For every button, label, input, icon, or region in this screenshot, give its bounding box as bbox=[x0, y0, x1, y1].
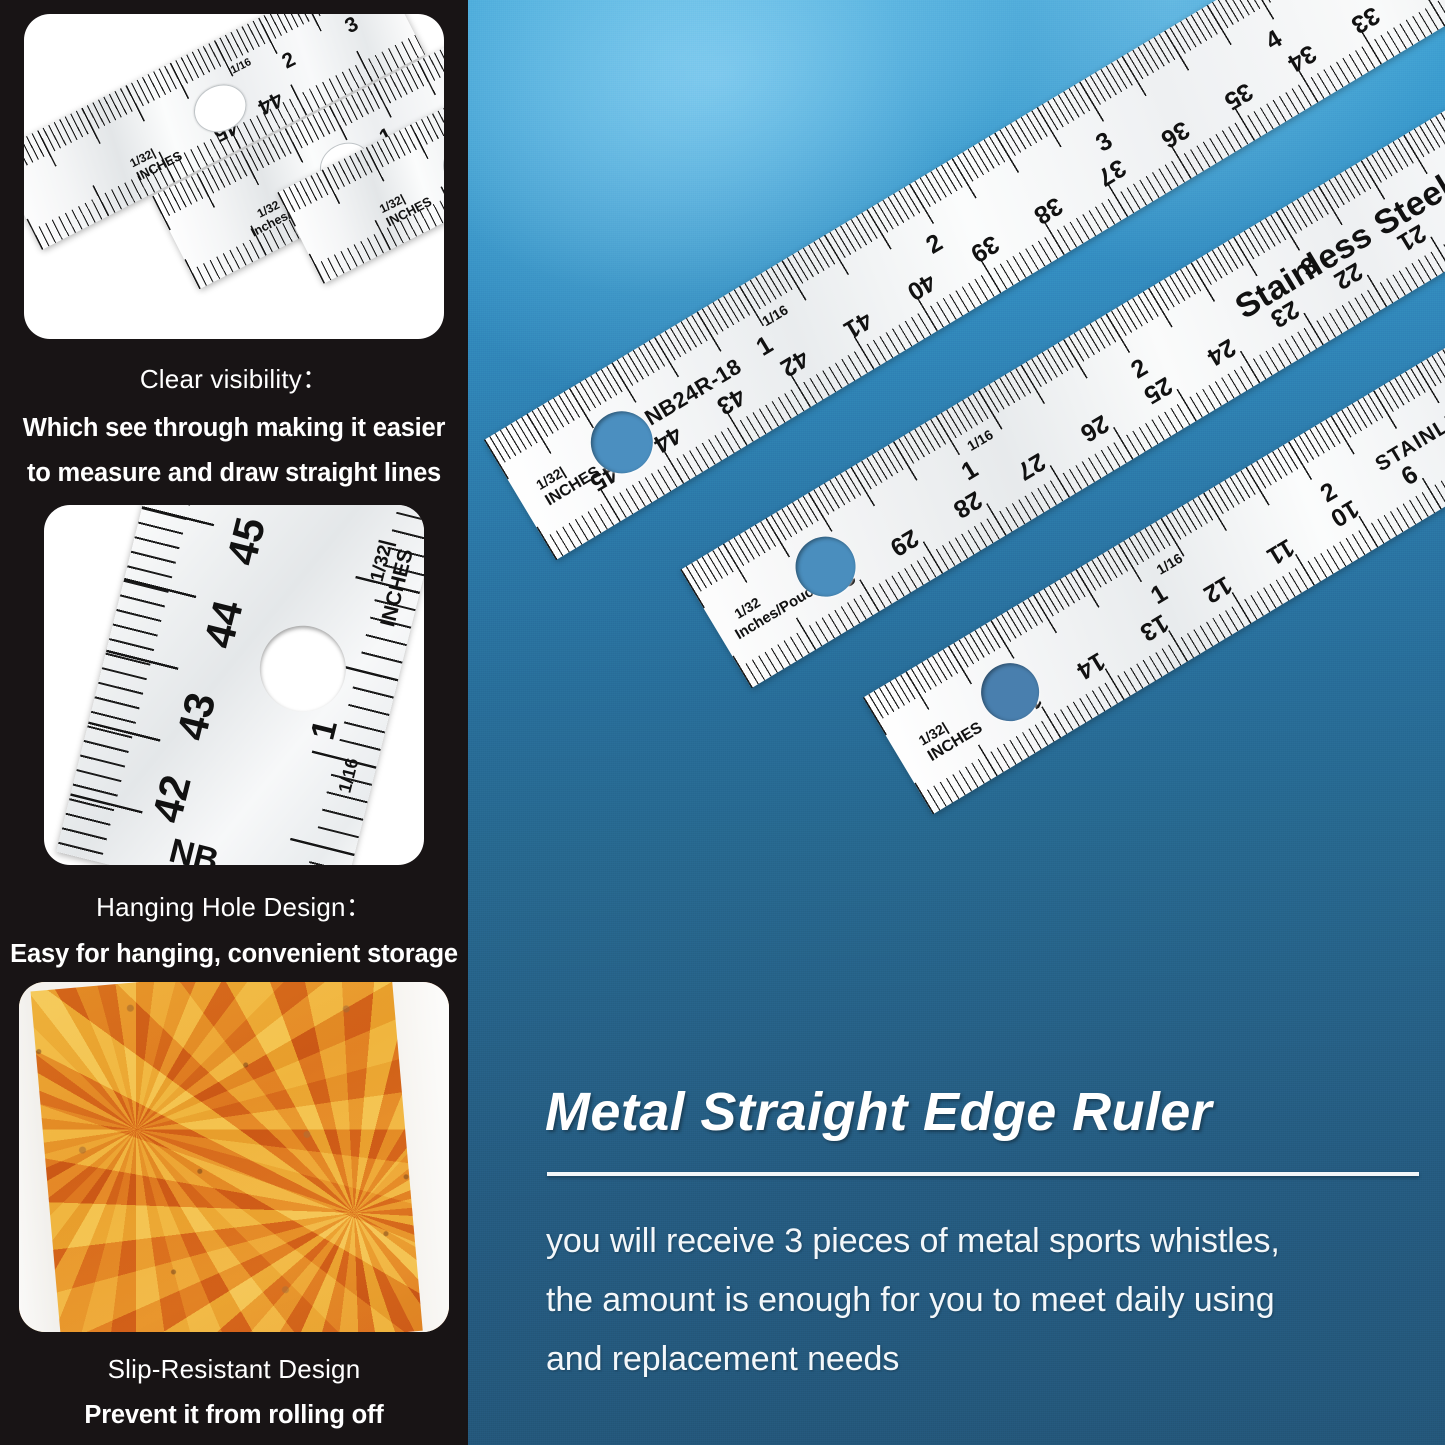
feature-photo-hanging-hole: 45 44 43 42 1/32| INCHES 1 1/16 NB bbox=[44, 505, 424, 865]
hero-description-line-1: you will receive 3 pieces of metal sport… bbox=[546, 1212, 1436, 1271]
divider bbox=[547, 1172, 1419, 1176]
feature-photo-cork-backing bbox=[19, 982, 449, 1332]
page-title: Metal Straight Edge Ruler bbox=[545, 1081, 1425, 1143]
product-marketing-image: 1 2 3 1/16 1/32| INCHES 45 44 1 2 bbox=[0, 0, 1445, 1445]
feature-line-2: to measure and draw straight lines bbox=[0, 459, 468, 488]
feature-title-slip-resistant: Slip-Resistant Design bbox=[0, 1354, 468, 1385]
feature-line-1: Prevent it from rolling off bbox=[0, 1401, 468, 1430]
feature-line-1: Easy for hanging, convenient storage bbox=[0, 940, 468, 969]
hero-description-line-2: the amount is enough for you to meet dai… bbox=[546, 1271, 1436, 1330]
feature-line-1: Which see through making it easier bbox=[0, 414, 468, 443]
feature-block-clear-visibility: 1 2 3 1/16 1/32| INCHES 45 44 1 2 bbox=[0, 14, 468, 488]
hanging-hole bbox=[970, 652, 1050, 732]
feature-sidebar: 1 2 3 1/16 1/32| INCHES 45 44 1 2 bbox=[0, 0, 468, 1445]
ruler-brand-etch: STAINLESS STEEL bbox=[1372, 350, 1445, 475]
ruler-hole-closeup: 45 44 43 42 1/32| INCHES 1 1/16 NB bbox=[56, 505, 424, 865]
hero-panel: 1 2 3 4 5 6 1/16 45 44 43 42 41 40 39 38… bbox=[468, 0, 1445, 1445]
feature-photo-clear-visibility: 1 2 3 1/16 1/32| INCHES 45 44 1 2 bbox=[24, 14, 444, 339]
feature-title-hanging-hole: Hanging Hole Design： bbox=[0, 887, 468, 924]
feature-block-hanging-hole: 45 44 43 42 1/32| INCHES 1 1/16 NB Hangi… bbox=[0, 505, 468, 969]
feature-title-clear-visibility: Clear visibility： bbox=[0, 359, 468, 396]
hero-description: you will receive 3 pieces of metal sport… bbox=[546, 1212, 1436, 1389]
cork-strip bbox=[19, 982, 449, 1332]
hanging-hole bbox=[186, 76, 255, 142]
hero-description-line-3: and replacement needs bbox=[546, 1330, 1436, 1389]
feature-block-slip-resistant: Slip-Resistant Design Prevent it from ro… bbox=[0, 982, 468, 1430]
